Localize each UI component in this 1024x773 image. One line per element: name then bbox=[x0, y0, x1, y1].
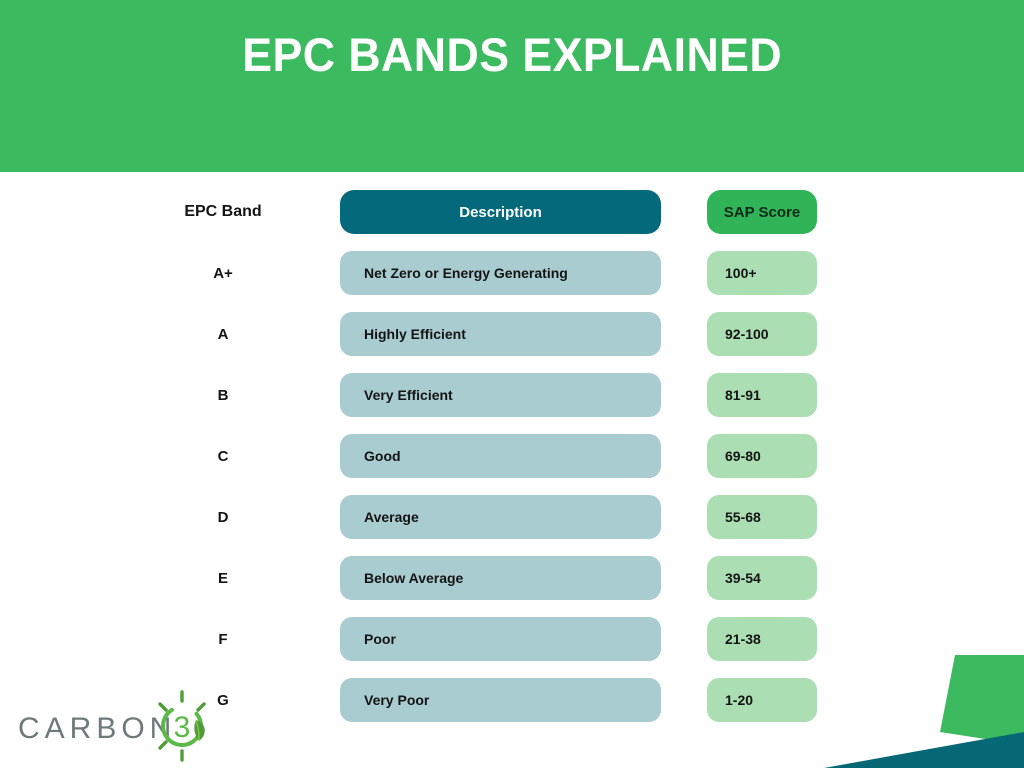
table-row: A+ Net Zero or Energy Generating 100+ bbox=[0, 251, 1024, 312]
svg-text:3: 3 bbox=[174, 711, 191, 744]
band-sap-score: 39-54 bbox=[707, 556, 817, 600]
band-sap-score: 21-38 bbox=[707, 617, 817, 661]
epc-bands-table: EPC Band Description SAP Score A+ Net Ze… bbox=[0, 190, 1024, 739]
table-row: C Good 69-80 bbox=[0, 434, 1024, 495]
band-label: D bbox=[160, 495, 286, 539]
band-sap-score: 100+ bbox=[707, 251, 817, 295]
band-description: Poor bbox=[340, 617, 661, 661]
header-banner: EPC BANDS EXPLAINED bbox=[0, 0, 1024, 172]
carbon3-logo: CARBON 3 bbox=[18, 694, 218, 758]
band-description: Good bbox=[340, 434, 661, 478]
band-label: A bbox=[160, 312, 286, 356]
band-label: F bbox=[160, 617, 286, 661]
column-header-sap-score: SAP Score bbox=[707, 190, 817, 234]
table-row: A Highly Efficient 92-100 bbox=[0, 312, 1024, 373]
page-title: EPC BANDS EXPLAINED bbox=[242, 30, 782, 81]
band-sap-score: 55-68 bbox=[707, 495, 817, 539]
column-header-description: Description bbox=[340, 190, 661, 234]
band-sap-score: 1-20 bbox=[707, 678, 817, 722]
band-description: Very Poor bbox=[340, 678, 661, 722]
table-row: B Very Efficient 81-91 bbox=[0, 373, 1024, 434]
band-label: B bbox=[160, 373, 286, 417]
band-sap-score: 81-91 bbox=[707, 373, 817, 417]
band-description: Very Efficient bbox=[340, 373, 661, 417]
table-row: E Below Average 39-54 bbox=[0, 556, 1024, 617]
band-label: A+ bbox=[160, 251, 286, 295]
band-sap-score: 69-80 bbox=[707, 434, 817, 478]
band-description: Average bbox=[340, 495, 661, 539]
band-label: C bbox=[160, 434, 286, 478]
table-row: D Average 55-68 bbox=[0, 495, 1024, 556]
table-header-row: EPC Band Description SAP Score bbox=[0, 190, 1024, 251]
band-label: E bbox=[160, 556, 286, 600]
table-row: F Poor 21-38 bbox=[0, 617, 1024, 678]
band-description: Below Average bbox=[340, 556, 661, 600]
column-header-epc-band: EPC Band bbox=[160, 190, 286, 234]
band-description: Net Zero or Energy Generating bbox=[340, 251, 661, 295]
sun-leaf-three-icon: 3 bbox=[146, 690, 218, 762]
band-sap-score: 92-100 bbox=[707, 312, 817, 356]
band-description: Highly Efficient bbox=[340, 312, 661, 356]
